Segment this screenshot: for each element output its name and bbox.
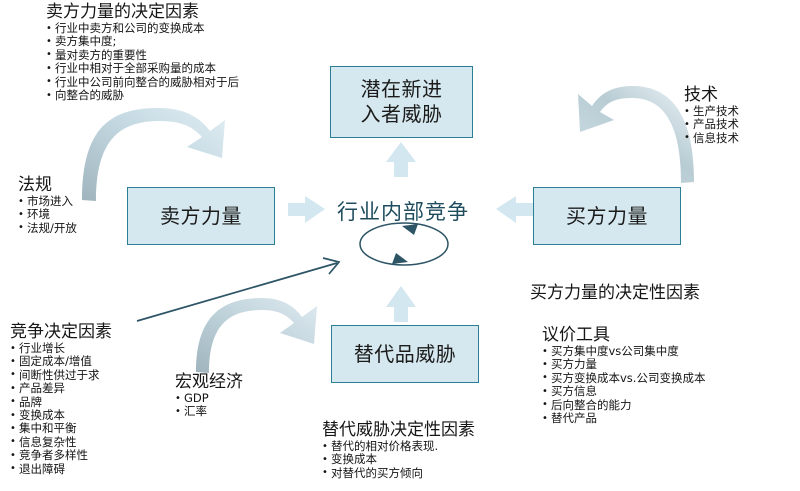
panel-substitute-determinants-list: 替代的相对价格表现. 变换成本 对替代的买方倾向: [322, 440, 475, 480]
list-item: 生产技术: [684, 105, 739, 118]
panel-technology: 技术 生产技术 产品技术 信息技术: [684, 85, 739, 145]
panel-supplier-determinants-heading: 卖方力量的决定因素: [46, 2, 239, 22]
list-item: 品牌: [10, 396, 112, 409]
list-item: 竞争者多样性: [10, 449, 112, 462]
block-arrow-right: [288, 196, 325, 223]
list-item: 行业中卖方和公司的变换成本: [46, 22, 239, 35]
list-item: 汇率: [175, 405, 243, 418]
panel-regulation-list: 市场进入 环境 法规/开放: [18, 195, 77, 235]
list-item: 量对卖方的重要性: [46, 49, 239, 62]
list-item: 退出障碍: [10, 463, 112, 476]
panel-technology-heading: 技术: [684, 85, 739, 105]
panel-buyer-determinants-heading: 买方力量的决定性因素: [530, 283, 700, 303]
panel-supplier-determinants: 卖方力量的决定因素 行业中卖方和公司的变换成本 卖方集中度; 量对卖方的重要性 …: [46, 2, 239, 102]
panel-competition-determinants-heading: 竞争决定因素: [10, 322, 112, 342]
panel-buyer-determinants-list: 买方集中度vs公司集中度 买方力量 买方变换成本vs.公司变换成本 买方信息 后…: [542, 345, 705, 425]
rivalry-ellipse: [360, 223, 448, 265]
box-substitutes[interactable]: 替代品威胁: [331, 325, 479, 383]
list-item: 买方变换成本vs.公司变换成本: [542, 372, 705, 385]
box-buyers[interactable]: 买方力量: [533, 187, 681, 245]
box-suppliers-label: 卖方力量: [160, 204, 242, 229]
panel-competition-determinants-list: 行业增长 固定成本/增值 间断性供过于求 产品差异 品牌 变换成本 集中和平衡 …: [10, 342, 112, 476]
box-new-entrants-label: 潜在新进 入者威胁: [361, 77, 443, 127]
diagonal-line-arrow: [137, 258, 339, 321]
block-arrow-down: [386, 142, 416, 177]
curved-arrow-top-right: [578, 86, 694, 183]
list-item: 卖方集中度;: [46, 35, 239, 48]
list-item: 变换成本: [10, 409, 112, 422]
panel-macro-economy-list: GDP 汇率: [175, 392, 243, 419]
panel-macro-economy-heading: 宏观经济: [175, 372, 243, 392]
porter-five-forces-diagram: 潜在新进 入者威胁 卖方力量 买方力量 替代品威胁 行业内部竞争 卖方力量的决定…: [0, 0, 800, 491]
list-item: 向整合的威胁: [46, 89, 239, 102]
list-item: 行业中相对于全部采购量的成本: [46, 62, 239, 75]
curved-arrow-bottom-left: [196, 298, 317, 373]
panel-regulation-heading: 法规: [18, 175, 77, 195]
list-item: 集中和平衡: [10, 422, 112, 435]
list-item: 间断性供过于求: [10, 369, 112, 382]
list-item: 环境: [18, 208, 77, 221]
panel-supplier-determinants-list: 行业中卖方和公司的变换成本 卖方集中度; 量对卖方的重要性 行业中相对于全部采购…: [46, 22, 239, 102]
box-new-entrants[interactable]: 潜在新进 入者威胁: [330, 66, 473, 138]
panel-substitute-determinants-heading: 替代威胁决定性因素: [322, 420, 475, 440]
list-item: 信息技术: [684, 132, 739, 145]
list-item: 市场进入: [18, 195, 77, 208]
list-item: 替代产品: [542, 412, 705, 425]
list-item: 买方力量: [542, 358, 705, 371]
box-buyers-label: 买方力量: [566, 204, 648, 229]
box-substitutes-label: 替代品威胁: [354, 342, 457, 367]
list-item: 替代的相对价格表现.: [322, 440, 475, 453]
list-item: 固定成本/增值: [10, 355, 112, 368]
panel-competition-determinants: 竞争决定因素 行业增长 固定成本/增值 间断性供过于求 产品差异 品牌 变换成本…: [10, 322, 112, 476]
list-item: 法规/开放: [18, 222, 77, 235]
list-item: 产品差异: [10, 382, 112, 395]
list-item: 行业中公司前向整合的威胁相对于后: [46, 76, 239, 89]
panel-regulation: 法规 市场进入 环境 法规/开放: [18, 175, 77, 235]
list-item: 买方信息: [542, 385, 705, 398]
list-item: 买方集中度vs公司集中度: [542, 345, 705, 358]
list-item: 对替代的买方倾向: [322, 467, 475, 480]
center-label-rivalry: 行业内部竞争: [337, 196, 469, 226]
list-item: 变换成本: [322, 453, 475, 466]
list-item: 产品技术: [684, 118, 739, 131]
panel-buyer-determinants: 议价工具 买方集中度vs公司集中度 买方力量 买方变换成本vs.公司变换成本 买…: [542, 325, 705, 425]
panel-macro-economy: 宏观经济 GDP 汇率: [175, 372, 243, 419]
list-item: 信息复杂性: [10, 436, 112, 449]
panel-buyer-determinants-subheading: 议价工具: [542, 325, 705, 345]
list-item: 后向整合的能力: [542, 399, 705, 412]
box-suppliers[interactable]: 卖方力量: [127, 187, 275, 245]
list-item: 行业增长: [10, 342, 112, 355]
panel-buyer-determinants-heading-wrap: 买方力量的决定性因素: [530, 283, 700, 303]
block-arrow-up: [386, 286, 416, 322]
panel-technology-list: 生产技术 产品技术 信息技术: [684, 105, 739, 145]
panel-substitute-determinants: 替代威胁决定性因素 替代的相对价格表现. 变换成本 对替代的买方倾向: [322, 420, 475, 480]
list-item: GDP: [175, 392, 243, 405]
block-arrow-left: [496, 196, 533, 223]
